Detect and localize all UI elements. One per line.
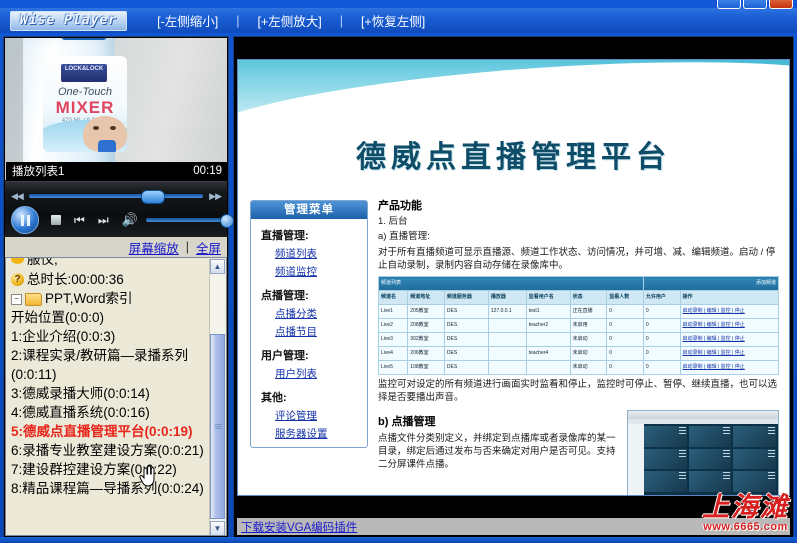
column-header: 频道地址 xyxy=(408,291,445,305)
pause-button[interactable] xyxy=(11,206,39,234)
column-header: 频道名 xyxy=(379,291,408,305)
cell: teacher2 xyxy=(526,319,570,333)
plugin-link-bar: 下载安装VGA编码插件 xyxy=(237,518,790,535)
wise-player-window: Wise Player [-左侧缩小] | [+左侧放大] | [+恢复左侧] … xyxy=(0,0,797,543)
pause-icon xyxy=(21,215,30,226)
bottle-image: LOCK&LOCK One-Touch MIXER 470 ML / 9.36 … xyxy=(23,38,115,180)
cell: 0 xyxy=(643,333,680,347)
cell xyxy=(488,319,526,333)
list-item[interactable]: 1:企业介绍(0:0:3) xyxy=(9,327,208,346)
seek-row: ◀◀ ▶▶ xyxy=(11,189,221,203)
menu-link[interactable]: 频道列表 xyxy=(261,246,367,261)
menu-group-other: 其他: 评论管理 服务器设置 xyxy=(251,389,367,441)
stop-button[interactable] xyxy=(51,215,61,225)
management-menu-box: 管理菜单 直播管理: 频道列表 频道监控 点播管理: 点播分类 点播节目 用户管… xyxy=(250,200,368,448)
table-header-row: 频道名 频道地址 频道服务器 播放器 监看用户名 状态 监看人数 允许用户 操作 xyxy=(379,291,779,305)
menu-group-vod: 点播管理: 点播分类 点播节目 xyxy=(251,287,367,339)
table-row: Live2 208教室 DES teacher2 未启用 0 0 启动录制 | … xyxy=(379,319,779,333)
table-row: Live3 302教室 DES 未启动 0 0 启动录制 | 编辑 | 监控 |… xyxy=(379,333,779,347)
menu-group-user: 用户管理: 用户列表 xyxy=(251,347,367,381)
cell: 0 xyxy=(607,361,644,375)
cell: Live4 xyxy=(379,347,408,361)
enlarge-left-button[interactable]: [+左侧放大] xyxy=(253,11,325,30)
cell xyxy=(488,361,526,375)
content-heading: 产品功能 xyxy=(378,200,779,213)
menu-group-title: 其他: xyxy=(261,389,367,405)
scroll-up-button[interactable]: ▲ xyxy=(210,259,225,274)
thumbnail-cell xyxy=(733,426,776,447)
volume-thumb[interactable] xyxy=(220,214,234,228)
cell: 正在直播 xyxy=(570,305,607,319)
cell: 108教室 xyxy=(408,361,445,375)
slide-text-column: 产品功能 1. 后台 a) 直播管理: 对于所有直播频道可显示直播源、频道工作状… xyxy=(378,200,779,496)
cell: 127.0.0.1 xyxy=(488,305,526,319)
app-logo: Wise Player xyxy=(10,11,127,31)
rewind-icon[interactable]: ◀◀ xyxy=(11,191,23,202)
player-control-bar: ◀◀ ▶▶ ⏮ ⏭ 🔊 xyxy=(5,181,227,238)
list-item[interactable]: 8:精品课程篇—导播系列(0:0:24) xyxy=(9,479,208,498)
zoom-separator: | xyxy=(186,240,189,254)
cell: DES xyxy=(444,319,488,333)
column-header: 播放器 xyxy=(488,291,526,305)
restore-left-button[interactable]: [+恢复左侧] xyxy=(357,11,429,30)
playlist-item-label: 开始位置(0:0:0) xyxy=(11,308,104,327)
eye-left-icon xyxy=(93,126,99,130)
toolbar-links: [-左侧缩小] | [+左侧放大] | [+恢复左侧] xyxy=(153,11,429,30)
list-item-selected[interactable]: 5:德威点直播管理平台(0:0:19) xyxy=(9,422,208,441)
vod-screenshot-image xyxy=(627,410,779,496)
speaker-icon[interactable]: 🔊 xyxy=(122,212,138,228)
list-item[interactable]: 4:德威直播系统(0:0:16) xyxy=(9,403,208,422)
playlist-item-label: 8:精品课程篇—导播系列(0:0:24) xyxy=(11,479,204,498)
row-actions[interactable]: 启动录制 | 编辑 | 监控 | 停止 xyxy=(680,333,778,347)
question-icon: ? xyxy=(11,273,24,286)
column-header: 监看人数 xyxy=(607,291,644,305)
presentation-slide[interactable]: 德威点直播管理平台 管理菜单 直播管理: 频道列表 频道监控 点播管理: 点播分… xyxy=(237,59,790,496)
menu-link[interactable]: 频道监控 xyxy=(261,264,367,279)
playlist-item-label: 6:录播专业教室建设方案(0:0:21) xyxy=(11,441,204,460)
playlist-name-label: 播放列表1 xyxy=(12,163,64,179)
table-caption: 频道列表 xyxy=(379,277,644,291)
cell: 未启动 xyxy=(570,347,607,361)
menu-link[interactable]: 点播节目 xyxy=(261,324,367,339)
content-lower-text: b) 点播管理 点播文件分类别定义，并绑定到点播库或者录像库的某一目录，绑定后通… xyxy=(378,410,619,496)
bottom-strip xyxy=(0,537,797,543)
screen-zoom-link[interactable]: 屏幕缩放 xyxy=(129,238,179,257)
cell: 205教室 xyxy=(408,305,445,319)
toolbar-separator-2: | xyxy=(340,14,343,28)
thumbnail-cell xyxy=(689,471,732,492)
menu-group-title: 直播管理: xyxy=(261,227,367,243)
next-button[interactable]: ⏭ xyxy=(98,213,109,228)
cell: 0 xyxy=(643,305,680,319)
cell: 未启用 xyxy=(570,319,607,333)
list-item[interactable]: 2:课程实录/教研篇—录播系列(0:0:11) xyxy=(9,346,208,384)
cell: 0 xyxy=(643,361,680,375)
slide-title: 德威点直播管理平台 xyxy=(238,132,789,176)
column-header: 操作 xyxy=(680,291,778,305)
scroll-grip-icon xyxy=(215,424,222,430)
scroll-down-button[interactable]: ▼ xyxy=(210,521,225,536)
playlist-cut-label: 服仪, xyxy=(27,257,58,269)
cell: 未启动 xyxy=(570,361,607,375)
menu-header: 管理菜单 xyxy=(251,201,367,219)
playlist-tree[interactable]: 服仪, ? 总时长:00:00:36 − PPT,Word索引 开始位置(0:0… xyxy=(5,257,227,536)
slide-panel: 德威点直播管理平台 管理菜单 直播管理: 频道列表 频道监控 点播管理: 点播分… xyxy=(233,36,794,538)
cell: test1 xyxy=(526,305,570,319)
cell: 0 xyxy=(607,347,644,361)
column-header: 允许用户 xyxy=(643,291,680,305)
cell: Live1 xyxy=(379,305,408,319)
column-header: 状态 xyxy=(570,291,607,305)
screenshot-thumbnail-grid xyxy=(644,426,776,492)
cell: 0 xyxy=(607,333,644,347)
playlist-item-label: 2:课程实录/教研篇—录播系列(0:0:11) xyxy=(11,346,208,384)
menu-link[interactable]: 用户列表 xyxy=(261,366,367,381)
playlist-content: 服仪, ? 总时长:00:00:36 − PPT,Word索引 开始位置(0:0… xyxy=(6,258,211,498)
fast-forward-icon[interactable]: ▶▶ xyxy=(209,191,221,202)
cell: 0 xyxy=(643,347,680,361)
table-add-link[interactable]: 添加频道 xyxy=(643,277,778,291)
cell: 206教室 xyxy=(408,347,445,361)
folder-icon xyxy=(25,293,42,306)
cell: 0 xyxy=(607,319,644,333)
collapse-toggle-icon[interactable]: − xyxy=(11,294,22,305)
menu-link[interactable]: 点播分类 xyxy=(261,306,367,321)
shrink-left-button[interactable]: [-左侧缩小] xyxy=(153,11,222,30)
row-actions[interactable]: 启动录制 | 编辑 | 监控 | 停止 xyxy=(680,319,778,333)
playlist-folder-row[interactable]: − PPT,Word索引 xyxy=(9,289,208,308)
bottle-spout-graphic xyxy=(98,140,116,152)
thumbnail-cell xyxy=(644,426,687,447)
menu-link[interactable]: 服务器设置 xyxy=(261,426,367,441)
content-sub-a: a) 直播管理: xyxy=(378,230,779,243)
row-actions[interactable]: 启动录制 | 编辑 | 监控 | 停止 xyxy=(680,305,778,319)
table-caption-row: 频道列表 添加频道 xyxy=(379,277,779,291)
list-item[interactable]: 开始位置(0:0:0) xyxy=(9,308,208,327)
toolbar-separator-1: | xyxy=(236,14,239,28)
thumbnail-cell xyxy=(689,449,732,470)
cell: DES xyxy=(444,333,488,347)
folder-label: PPT,Word索引 xyxy=(45,289,133,308)
cell: DES xyxy=(444,305,488,319)
list-item[interactable]: 6:录播专业教室建设方案(0:0:21) xyxy=(9,441,208,460)
previous-button[interactable]: ⏮ xyxy=(74,213,85,228)
thumbnail-cell xyxy=(689,426,732,447)
thumbnail-cell xyxy=(733,449,776,470)
eye-right-icon xyxy=(110,126,116,130)
screenshot-sidebar xyxy=(628,424,644,495)
content-para-a2: 监控可对设定的所有频道进行画面实时监看和停止，监控时可停止、暂停、继续直播，也可… xyxy=(378,378,779,404)
table-row: Live1 205教室 DES 127.0.0.1 test1 正在直播 0 0… xyxy=(379,305,779,319)
cell xyxy=(488,333,526,347)
playlist-item-label: 3:德威录播大师(0:0:14) xyxy=(11,384,150,403)
content-lower-block: b) 点播管理 点播文件分类别定义，并绑定到点播库或者录像库的某一目录，绑定后通… xyxy=(378,410,779,496)
content-sub-b: b) 点播管理 xyxy=(378,416,619,429)
thumbnail-cell xyxy=(644,449,687,470)
content-para-b: 点播文件分类别定义，并绑定到点播库或者录像库的某一目录，绑定后通过发布与否来确定… xyxy=(378,432,619,471)
row-actions[interactable]: 启动录制 | 编辑 | 监控 | 停止 xyxy=(680,347,778,361)
total-duration-label: 总时长:00:00:36 xyxy=(27,270,124,289)
menu-group-title: 点播管理: xyxy=(261,287,367,303)
video-time-label: 00:19 xyxy=(193,165,222,177)
title-bar: Wise Player [-左侧缩小] | [+左侧放大] | [+恢复左侧] xyxy=(0,8,797,33)
menu-link[interactable]: 评论管理 xyxy=(261,408,367,423)
playlist-item-label: 4:德威直播系统(0:0:16) xyxy=(11,403,150,422)
cell: 0 xyxy=(607,305,644,319)
transport-buttons: ⏮ ⏭ 🔊 xyxy=(11,206,223,234)
menu-group-title: 用户管理: xyxy=(261,347,367,363)
thumbnail-cell xyxy=(733,471,776,492)
cell: Live2 xyxy=(379,319,408,333)
scroll-track[interactable] xyxy=(210,274,225,521)
cell xyxy=(526,333,570,347)
slide-body: 管理菜单 直播管理: 频道列表 频道监控 点播管理: 点播分类 点播节目 用户管… xyxy=(250,200,779,496)
volume-slider[interactable] xyxy=(146,218,221,222)
download-vga-plugin-link[interactable]: 下载安装VGA编码插件 xyxy=(241,519,357,535)
slide-black-footer xyxy=(237,497,790,517)
cell: Live5 xyxy=(379,361,408,375)
zoom-link-row: 屏幕缩放 | 全屏 xyxy=(5,237,227,257)
playlist-item-label: 1:企业介绍(0:0:3) xyxy=(11,327,115,346)
video-caption-bar: 播放列表1 00:19 xyxy=(6,162,227,180)
channel-table: 频道列表 添加频道 频道名 频道地址 频道服务器 播放器 监看用户名 状态 监看… xyxy=(378,276,779,375)
seek-thumb[interactable] xyxy=(141,190,165,204)
close-button[interactable] xyxy=(769,0,793,9)
cell: teacher4 xyxy=(526,347,570,361)
left-panel: LOCK&LOCK One-Touch MIXER 470 ML / 9.36 … xyxy=(3,36,229,538)
playlist-item-label: 5:德威点直播管理平台(0:0:19) xyxy=(11,422,193,441)
screenshot-subbar xyxy=(628,419,778,424)
video-surface[interactable]: LOCK&LOCK One-Touch MIXER 470 ML / 9.36 … xyxy=(5,38,227,180)
cell: 未启动 xyxy=(570,333,607,347)
playlist-scrollbar[interactable]: ▲ ▼ xyxy=(209,259,225,536)
seek-slider[interactable] xyxy=(29,194,203,198)
brand-logo: LOCK&LOCK xyxy=(61,64,107,82)
window-controls xyxy=(717,0,793,9)
slide-header-graphic xyxy=(238,60,789,122)
bottle-cap-icon xyxy=(61,38,107,40)
menu-group-live: 直播管理: 频道列表 频道监控 xyxy=(251,227,367,279)
cell: DES xyxy=(444,361,488,375)
column-header: 监看用户名 xyxy=(526,291,570,305)
bottle-label: LOCK&LOCK One-Touch MIXER 470 ML / 9.36 … xyxy=(43,56,127,152)
cell xyxy=(526,361,570,375)
list-item[interactable]: 3:德威录播大师(0:0:14) xyxy=(9,384,208,403)
smiley-icon xyxy=(11,257,24,264)
scroll-thumb[interactable] xyxy=(210,334,225,519)
fullscreen-link[interactable]: 全屏 xyxy=(196,238,221,257)
table-row: Live4 206教室 DES teacher4 未启动 0 0 启动录制 | … xyxy=(379,347,779,361)
minimize-button[interactable] xyxy=(717,0,741,9)
mouse-cursor-hand-icon xyxy=(139,465,156,487)
screenshot-titlebar xyxy=(628,411,778,419)
cell: 208教室 xyxy=(408,319,445,333)
cell: 302教室 xyxy=(408,333,445,347)
bottle-line-1: One-Touch xyxy=(43,86,127,98)
row-actions[interactable]: 启动录制 | 编辑 | 监控 | 停止 xyxy=(680,361,778,375)
playlist-cut-row: 服仪, xyxy=(9,257,58,269)
bottle-line-2: MIXER xyxy=(43,98,127,118)
maximize-button[interactable] xyxy=(743,0,767,9)
column-header: 频道服务器 xyxy=(444,291,488,305)
cell: DES xyxy=(444,347,488,361)
content-section-1: 1. 后台 xyxy=(378,215,779,228)
list-item[interactable]: 7:建设群控建设方案(0:0:22) xyxy=(9,460,208,479)
cell: Live3 xyxy=(379,333,408,347)
table-row: Live5 108教室 DES 未启动 0 0 启动录制 | 编辑 | 监控 |… xyxy=(379,361,779,375)
playlist-total-row: ? 总时长:00:00:36 xyxy=(9,270,208,289)
cell xyxy=(488,347,526,361)
content-para-a1: 对于所有直播频道可显示直播源、频道工作状态、访问情况，并可增、减、编辑频道。启动… xyxy=(378,246,779,272)
thumbnail-cell xyxy=(644,471,687,492)
cell: 0 xyxy=(643,319,680,333)
